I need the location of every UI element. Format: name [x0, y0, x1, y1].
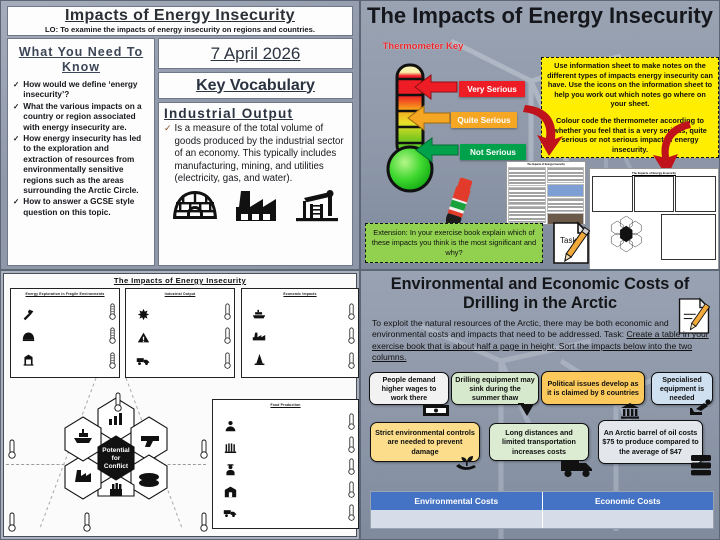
drill-icon — [22, 308, 35, 321]
slide-2-header: The Impacts of Energy Insecurity — [361, 1, 719, 28]
thermometer-icon — [109, 303, 116, 320]
thermometer-icon — [348, 413, 355, 430]
worksheet-panel-economic-impacts[interactable]: Economic Impacts — [241, 288, 359, 378]
check-icon: ✓ — [13, 197, 19, 218]
list-item-label: How to answer a GCSE style question on t… — [23, 197, 149, 218]
banknote-icon — [422, 403, 450, 417]
vocab-definition-row: ✓ Is a measure of the total volume of go… — [164, 122, 347, 186]
slide-4-instructions: To exploit the natural resources of the … — [372, 318, 709, 364]
list-item: ✓ How energy insecurity has led to the e… — [13, 134, 149, 196]
oil-barrels-icon — [688, 454, 714, 476]
slide-1-title-box: Impacts of Energy Insecurity LO: To exam… — [7, 6, 353, 36]
vocab-term: Industrial Output — [164, 106, 347, 122]
worksheet-panel-fragile-environments[interactable]: Energy Exploration in Fragile Environmen… — [10, 288, 120, 378]
information-sheet-thumbnail[interactable]: The Impacts of Energy Insecurity — [506, 161, 586, 225]
slide-4-arctic-drilling-costs: Environmental and Economic Costs of Dril… — [360, 270, 720, 540]
thermometer-column[interactable] — [347, 410, 356, 524]
thermometer-column[interactable] — [223, 299, 232, 373]
panel-heading: Energy Exploration in Fragile Environmen… — [11, 289, 119, 296]
thermometer-icon — [8, 512, 16, 532]
thermometer-icon — [348, 458, 355, 475]
costs-sorting-table[interactable]: Environmental Costs Economic Costs — [370, 491, 714, 529]
list-item: ✓ What the various impacts on a country … — [13, 102, 149, 133]
check-icon: ✓ — [13, 80, 19, 101]
table-row[interactable] — [371, 510, 713, 528]
oil-rig-icon — [22, 353, 35, 366]
what-you-need-to-know-box: What You Need To Know ✓ How would we def… — [7, 38, 155, 266]
level-label-very-serious: Very Serious — [459, 81, 525, 97]
oil-derrick-icon — [253, 353, 266, 366]
government-icon — [620, 402, 640, 419]
thermometer-icon — [109, 327, 116, 344]
vocab-icon-row — [164, 190, 347, 222]
arrow-very-serious-icon — [413, 73, 459, 101]
callout-people-demand-higher-wages[interactable]: People demand higher wages to work there — [369, 372, 449, 405]
sinking-icon — [516, 402, 538, 418]
thermometer-icon — [200, 512, 208, 532]
thermometer-icon — [8, 439, 16, 459]
factory-icon — [252, 331, 266, 342]
what-you-need-to-know-heading: What You Need To Know — [13, 45, 149, 75]
worker-icon — [224, 463, 237, 476]
extension-text: Extension: In your exercise book explain… — [371, 228, 537, 258]
truck-icon — [223, 507, 237, 518]
thermometer-icon — [224, 303, 231, 320]
lesson-date: 7 April 2026 — [211, 44, 301, 64]
key-vocabulary-heading: Key Vocabulary — [196, 77, 315, 95]
level-label-quite-serious: Quite Serious — [451, 112, 517, 128]
thermometer-icon — [348, 327, 355, 344]
learning-objective: LO: To examine the impacts of energy ins… — [45, 25, 315, 35]
date-box: 7 April 2026 — [158, 38, 353, 69]
level-label-not-serious: Not Serious — [460, 144, 526, 160]
igloo-icon — [172, 190, 218, 222]
vocab-definition: Is a measure of the total volume of good… — [175, 123, 347, 186]
worksheet-panel-industrial-output[interactable]: Industrial Output — [125, 288, 235, 378]
callout-political-issues[interactable]: Political issues develop as it is claime… — [541, 371, 645, 405]
callout-text: An Arctic barrel of oil costs $75 to pro… — [602, 428, 699, 456]
oil-pump-icon — [294, 190, 340, 222]
slide-deck-grid: Impacts of Energy Insecurity LO: To exam… — [0, 0, 720, 540]
igloo-icon — [22, 330, 35, 343]
instruction-plain: To exploit the natural resources of the … — [372, 318, 669, 339]
thermometer-icon — [200, 439, 208, 459]
page-title: Impacts of Energy Insecurity — [65, 7, 295, 24]
worksheet-sheet: The Impacts of Energy Insecurity Energy … — [3, 273, 357, 537]
hexagon-center-line-1: Potential — [102, 447, 130, 454]
factory-explosion-icon — [137, 308, 150, 321]
hexagon-center-line-2: for — [112, 455, 121, 462]
extension-box: Extension: In your exercise book explain… — [365, 223, 543, 263]
worksheet-panel-food-production[interactable]: Food Production — [212, 399, 359, 529]
column-header-environmental-costs: Environmental Costs — [371, 492, 543, 510]
worksheet-thumbnail[interactable]: The Impacts of Energy Insecurity — [589, 168, 719, 270]
factory-icon — [233, 190, 279, 222]
callout-text: People demand higher wages to work there — [373, 375, 445, 403]
callout-text: Strict environmental controls are needed… — [374, 428, 476, 456]
thermometer-column[interactable] — [347, 299, 356, 373]
thermometer-icon — [109, 352, 116, 369]
thermometer-icon — [224, 352, 231, 369]
crane-icon — [688, 399, 714, 417]
panel-icon-column — [248, 303, 270, 371]
slide-1-title-and-objectives: Impacts of Energy Insecurity LO: To exam… — [0, 0, 360, 270]
task-notepad-icon: Task — [551, 221, 591, 265]
warning-icon — [137, 331, 150, 344]
page-title: The Impacts of Energy Insecurity — [361, 3, 719, 28]
industrial-output-box: Industrial Output ✓ Is a measure of the … — [158, 102, 353, 266]
page-title: Environmental and Economic Costs of Dril… — [375, 275, 705, 313]
list-item-label: What the various impacts on a country or… — [23, 102, 149, 133]
thermometer-icon — [348, 436, 355, 453]
slide-1-body: What You Need To Know ✓ How would we def… — [7, 38, 353, 266]
thermometer-icon — [83, 512, 91, 532]
check-icon: ✓ — [164, 122, 172, 186]
curved-arrow-to-sheet-icon — [521, 101, 569, 161]
truck-icon — [559, 456, 595, 478]
arrow-quite-serious-icon — [406, 104, 452, 132]
hexagon-center-line-3: Conflict — [104, 463, 129, 470]
callout-text: Long distances and limited transportatio… — [493, 428, 585, 456]
check-icon: ✓ — [13, 102, 19, 133]
list-item-label: How would we define ‘energy insecurity’? — [23, 80, 149, 101]
callout-text: Political issues develop as it is claime… — [545, 379, 641, 398]
thermometer-icon — [348, 352, 355, 369]
panel-icon-column — [132, 303, 154, 371]
worksheet-title: The Impacts of Energy Insecurity — [4, 274, 356, 285]
thermometer-icon — [114, 392, 122, 412]
slide-2-thermometer-task: The Impacts of Energy Insecurity Thermom… — [360, 0, 720, 270]
instruction-paragraph-1: Use information sheet to make notes on t… — [546, 61, 714, 109]
thermometer-icon — [348, 481, 355, 498]
list-item: ✓ How to answer a GCSE style question on… — [13, 197, 149, 218]
table-cell-economic[interactable] — [543, 510, 714, 528]
panel-heading: Economic Impacts — [242, 289, 358, 296]
panel-icon-column — [219, 414, 241, 522]
truck-icon — [136, 355, 150, 366]
thermometer-icon — [348, 303, 355, 320]
check-icon: ✓ — [13, 134, 19, 196]
thermometer-column[interactable] — [108, 299, 117, 373]
panel-heading: Food Production — [213, 400, 358, 407]
table-cell-environmental[interactable] — [371, 510, 543, 528]
thermometer-key-label: Thermometer Key — [375, 41, 471, 52]
thermometer-icon — [224, 327, 231, 344]
panel-heading: Industrial Output — [126, 289, 234, 296]
farmer-icon — [224, 419, 237, 432]
crops-icon — [224, 441, 237, 454]
slide-1-right-column: 7 April 2026 Key Vocabulary Industrial O… — [158, 38, 353, 266]
plant-hand-icon — [454, 453, 480, 471]
need-to-know-list: ✓ How would we define ‘energy insecurity… — [13, 80, 149, 218]
ship-icon — [252, 309, 266, 320]
callout-drilling-equipment-sink[interactable]: Drilling equipment may sink during the s… — [451, 372, 539, 405]
callout-text: Drilling equipment may sink during the s… — [455, 375, 535, 403]
list-item-label: How energy insecurity has led to the exp… — [23, 134, 149, 196]
panel-icon-column — [17, 303, 39, 371]
list-item: ✓ How would we define ‘energy insecurity… — [13, 80, 149, 101]
slide-3-worksheet: The Impacts of Energy Insecurity Energy … — [0, 270, 360, 540]
table-header-row: Environmental Costs Economic Costs — [371, 492, 713, 510]
barn-icon — [224, 485, 237, 498]
arrow-not-serious-icon — [414, 136, 460, 164]
key-vocabulary-box: Key Vocabulary — [158, 72, 353, 99]
thermometer-icon — [348, 504, 355, 521]
slide-4-header: Environmental and Economic Costs of Dril… — [361, 271, 719, 313]
column-header-economic-costs: Economic Costs — [543, 492, 714, 510]
